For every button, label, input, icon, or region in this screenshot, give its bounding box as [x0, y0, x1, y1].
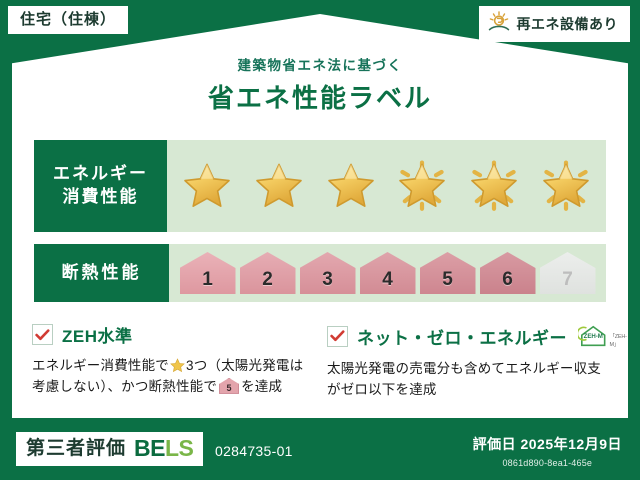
claim-nze-title: ネット・ゼロ・エネルギー — [357, 324, 567, 349]
renewable-chip-label: 再エネ設備あり — [517, 17, 619, 31]
checkbox-checked-icon — [32, 324, 53, 345]
bels-jp-label: 第三者評価 — [26, 439, 126, 458]
insulation-level-2: 2 — [240, 252, 296, 294]
solar-sun-icon — [487, 11, 511, 37]
insulation-row: 断熱性能 1234567 — [34, 244, 606, 302]
page-title: 省エネ性能ラベル — [0, 78, 640, 115]
energy-consumption-label: エネルギー 消費性能 — [34, 140, 167, 232]
energy-stars-container — [167, 140, 606, 232]
energy-consumption-row: エネルギー 消費性能 — [34, 140, 606, 232]
title-block: 建築物省エネ法に基づく 省エネ性能ラベル — [0, 54, 640, 115]
insulation-level-5: 5 — [420, 252, 476, 294]
zeh-m-logo-caption: 「ZEH-M」 — [609, 332, 632, 350]
renewable-equipment-chip: 再エネ設備あり — [479, 6, 631, 42]
claim-zeh-title: ZEH水準 — [62, 322, 133, 347]
insulation-level-4: 4 — [360, 252, 416, 294]
energy-star — [251, 158, 307, 214]
insulation-label: 断熱性能 — [34, 244, 169, 302]
svg-text:ZEH-M: ZEH-M — [584, 333, 603, 340]
inline-insulation-badge-icon: 5 — [219, 378, 239, 394]
checkbox-checked-icon — [327, 326, 348, 347]
evaluation-date: 評価日 2025年12月9日 — [473, 434, 622, 454]
claim-zeh-header: ZEH水準 — [32, 322, 309, 347]
evaluation-info: 評価日 2025年12月9日 0861d890-8ea1-465e — [473, 434, 622, 468]
claim-nze-body: 太陽光発電の売電分も含めてエネルギー収支がゼロ以下を達成 — [327, 359, 612, 401]
claim-nze-header: ネット・ゼロ・エネルギー ZEH-M 「ZEH-M」 — [327, 322, 612, 350]
title-subtitle: 建築物省エネ法に基づく — [0, 54, 640, 74]
energy-star-solar — [466, 158, 522, 214]
energy-star — [179, 158, 235, 214]
insulation-level-7: 7 — [540, 252, 596, 294]
zeh-m-house-logo: ZEH-M 「ZEH-M」 — [578, 322, 632, 350]
evaluation-id: 0861d890-8ea1-465e — [473, 458, 622, 468]
building-type-chip: 住宅（住棟） — [8, 6, 128, 34]
insulation-level-3: 3 — [300, 252, 356, 294]
energy-performance-label: 住宅（住棟） 再エネ設備あり 建築物省エネ法に基づく 省エネ性能ラベル 太陽 — [0, 0, 640, 480]
bels-wordmark: BELS — [134, 437, 193, 460]
claim-net-zero-energy: ネット・ゼロ・エネルギー ZEH-M 「ZEH-M」 太陽光発電の売電分も含めて… — [327, 322, 612, 401]
claim-zeh-standard: ZEH水準 エネルギー消費性能で3つ（太陽光発電は考慮しない）、かつ断熱性能で5… — [32, 322, 309, 401]
energy-star — [323, 158, 379, 214]
claim-zeh-text-3: を達成 — [241, 379, 282, 394]
bels-number: 0284735-01 — [215, 443, 293, 459]
insulation-level-6: 6 — [480, 252, 536, 294]
inline-star-icon — [170, 358, 185, 373]
claim-zeh-body: エネルギー消費性能で3つ（太陽光発電は考慮しない）、かつ断熱性能で5を達成 — [32, 356, 309, 398]
insulation-level-1: 1 — [180, 252, 236, 294]
energy-star-solar — [538, 158, 594, 214]
claim-zeh-text-1: エネルギー消費性能で — [32, 358, 169, 373]
bels-badge: 第三者評価 BELS — [16, 432, 203, 466]
energy-star-solar — [394, 158, 450, 214]
footer: 第三者評価 BELS 0284735-01 評価日 2025年12月9日 086… — [0, 424, 640, 480]
insulation-levels-container: 1234567 — [169, 244, 606, 302]
claims-section: ZEH水準 エネルギー消費性能で3つ（太陽光発電は考慮しない）、かつ断熱性能で5… — [32, 322, 612, 401]
